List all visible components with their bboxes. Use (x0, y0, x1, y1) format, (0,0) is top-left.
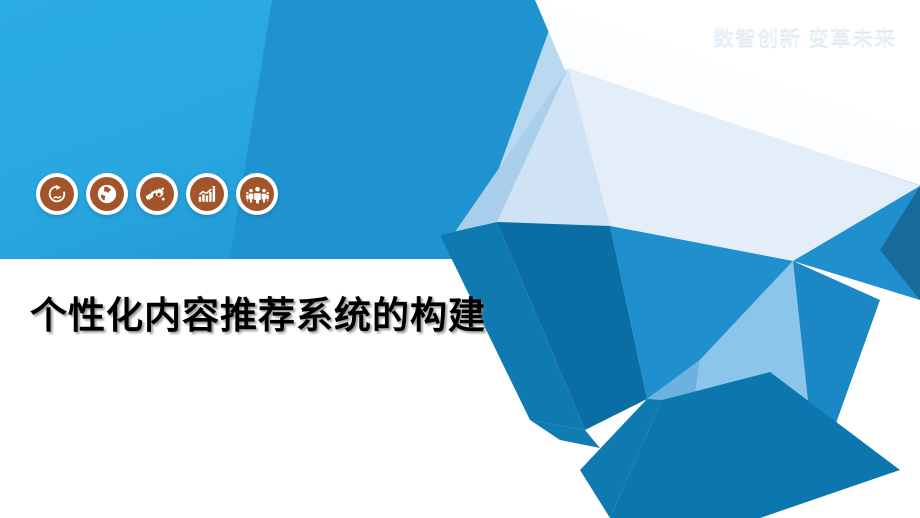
icon-badge-people-group[interactable] (236, 173, 278, 215)
icon-badge-globe[interactable] (86, 173, 128, 215)
icon-row (36, 173, 278, 215)
slide-tagline: 数智创新 变革未来 (713, 28, 896, 49)
bar-chart-icon (190, 177, 224, 211)
gears-icon (140, 177, 174, 211)
icon-badge-gears[interactable] (136, 173, 178, 215)
presentation-slide: 数智创新 变革未来 (0, 0, 920, 518)
people-group-icon (240, 177, 274, 211)
growth-arrow-icon (40, 177, 74, 211)
low-poly-artwork (0, 0, 920, 518)
icon-badge-growth-arrow[interactable] (36, 173, 78, 215)
globe-icon (90, 177, 124, 211)
icon-badge-bar-chart[interactable] (186, 173, 228, 215)
page-title: 个性化内容推荐系统的构建 (30, 295, 486, 338)
